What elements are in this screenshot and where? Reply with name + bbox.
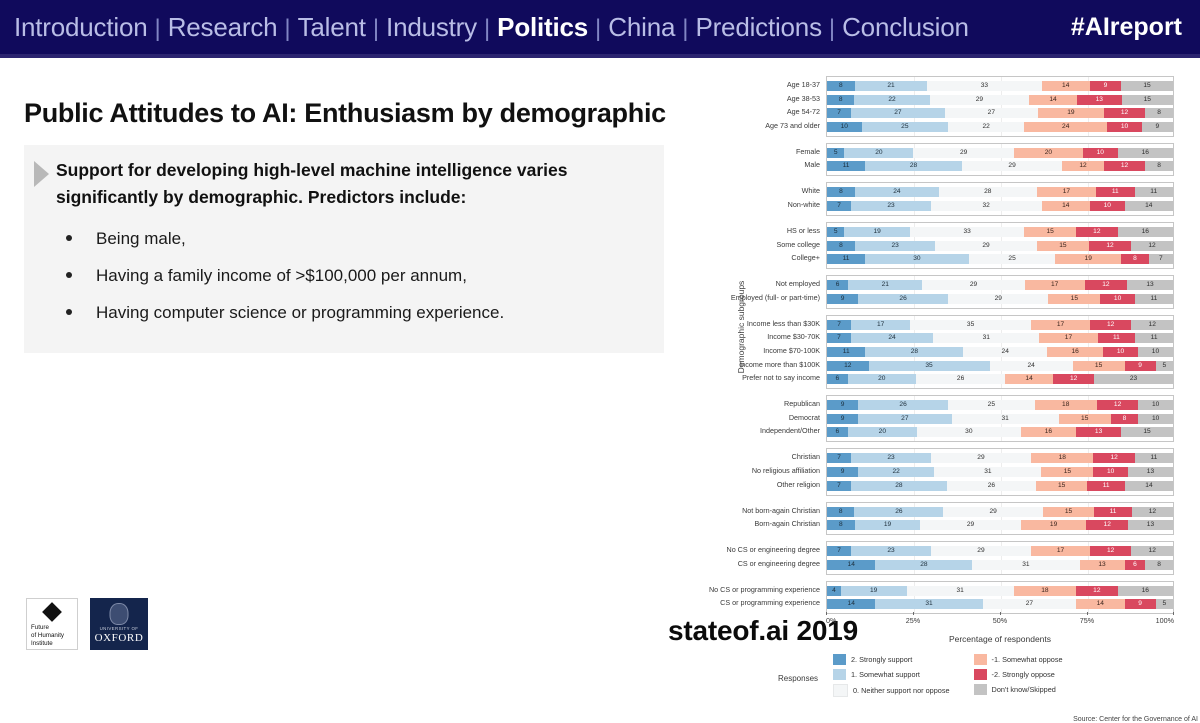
chart-x-tick bbox=[1000, 612, 1001, 615]
callout-text: Support for developing high-level machin… bbox=[56, 157, 650, 211]
chart-bar-row: 112824161010 bbox=[827, 347, 1173, 357]
chart-bar-segment: 12 bbox=[1090, 320, 1132, 330]
chart-facet-religion: 723291812119223115101372826151114 bbox=[826, 448, 1174, 495]
page-title: Public Attitudes to AI: Enthusiasm by de… bbox=[24, 98, 684, 129]
chart-x-tick bbox=[1173, 612, 1174, 615]
chart-bar-segment: 9 bbox=[1125, 599, 1156, 609]
chart-bar-segment: 27 bbox=[851, 108, 944, 118]
legend-column-left: 2. Strongly support1. Somewhat support0.… bbox=[833, 654, 950, 697]
nav-separator: | bbox=[822, 15, 842, 43]
chart-bar-row: 10252224109 bbox=[827, 122, 1173, 132]
chart-bar-segment: 19 bbox=[841, 586, 907, 596]
chart-bar-segment: 15 bbox=[1121, 427, 1173, 437]
chart-bar-segment: 7 bbox=[827, 108, 851, 118]
chart-bar-segment: 13 bbox=[1128, 467, 1173, 477]
bullet-item: Having computer science or programming e… bbox=[34, 301, 650, 326]
chart-bar-row: 7272719128 bbox=[827, 108, 1173, 118]
chart-bar-row: 92231151013 bbox=[827, 467, 1173, 477]
chart-bar-segment: 18 bbox=[1035, 400, 1097, 410]
nav-item-china[interactable]: China bbox=[608, 12, 675, 43]
chart-bar-segment: 28 bbox=[865, 161, 962, 171]
chart-facet-politics: 92625181210927311581062030161315 bbox=[826, 395, 1174, 442]
chart-row-label: White bbox=[802, 186, 820, 196]
chart-bar-segment: 19 bbox=[1021, 520, 1087, 530]
oxford-university-logo: UNIVERSITY OF OXFORD bbox=[90, 598, 148, 650]
chart-bar-segment: 8 bbox=[1145, 108, 1173, 118]
chart-bar-segment: 18 bbox=[1014, 586, 1076, 596]
chart-bar-segment: 8 bbox=[827, 95, 854, 105]
chart-bar-segment: 17 bbox=[1039, 333, 1097, 343]
chart-bar-segment: 12 bbox=[1053, 374, 1094, 384]
chart-bar-segment: 6 bbox=[827, 427, 848, 437]
nav-item-industry[interactable]: Industry bbox=[386, 12, 477, 43]
chart-bar-segment: 11 bbox=[1135, 453, 1173, 463]
chart-bar-segment: 12 bbox=[1132, 507, 1173, 517]
chart-bar-segment: 7 bbox=[827, 453, 851, 463]
chart-bar-segment: 24 bbox=[990, 361, 1073, 371]
chart-bar-segment: 9 bbox=[827, 467, 858, 477]
chart-bar-segment: 10 bbox=[827, 122, 862, 132]
chart-row-label: CS or programming experience bbox=[720, 598, 820, 608]
chart-bar-segment: 12 bbox=[1089, 241, 1131, 251]
chart-bar-segment: 27 bbox=[858, 414, 951, 424]
nav-separator: | bbox=[477, 15, 497, 43]
chart-bar-row: 1431271495 bbox=[827, 599, 1173, 609]
chart-bar-segment: 20 bbox=[1014, 148, 1083, 158]
chart-bar-segment: 12 bbox=[1131, 546, 1173, 556]
legend-item[interactable]: 0. Neither support nor oppose bbox=[833, 684, 950, 697]
chart-bar-segment: 13 bbox=[1080, 560, 1125, 570]
chart-facet-cs-degree: 723291712121428311368 bbox=[826, 541, 1174, 575]
fhi-line-2: of Humanity bbox=[31, 632, 74, 640]
chart-facet-income: 7173517121272431171111112824161010123524… bbox=[826, 315, 1174, 389]
chart-bar-row: 82229141315 bbox=[827, 95, 1173, 105]
chart-bar-segment: 28 bbox=[875, 560, 972, 570]
chart-bar-segment: 8 bbox=[1145, 161, 1173, 171]
chart-bar-segment: 31 bbox=[972, 560, 1079, 570]
chart-row-label: Not born-again Christian bbox=[742, 506, 820, 516]
chart-bar-segment: 8 bbox=[1121, 254, 1149, 264]
chart-bar-segment: 17 bbox=[1031, 320, 1090, 330]
chart-bar-segment: 12 bbox=[1131, 320, 1173, 330]
chart-bar-segment: 16 bbox=[1021, 427, 1076, 437]
chart-bar-segment: 10 bbox=[1090, 201, 1125, 211]
chart-bar-segment: 29 bbox=[948, 294, 1048, 304]
chart-bar-segment: 27 bbox=[945, 108, 1038, 118]
nav-item-research[interactable]: Research bbox=[168, 12, 278, 43]
chart-bar-segment: 7 bbox=[1149, 254, 1173, 264]
chart-bar-segment: 15 bbox=[1121, 81, 1173, 91]
legend-swatch bbox=[833, 684, 848, 697]
nav-item-talent[interactable]: Talent bbox=[298, 12, 366, 43]
chart-bar-segment: 11 bbox=[1096, 187, 1134, 197]
chart-bar-row: 9273115810 bbox=[827, 414, 1173, 424]
chart-bar-segment: 29 bbox=[922, 280, 1024, 290]
chart-bar-row: 52029201016 bbox=[827, 148, 1173, 158]
chart-bar-segment: 26 bbox=[916, 374, 1005, 384]
chart-bar-segment: 28 bbox=[865, 347, 963, 357]
nav-separator: | bbox=[588, 15, 608, 43]
chart-bar-segment: 9 bbox=[827, 400, 858, 410]
chart-bar-segment: 25 bbox=[969, 254, 1056, 264]
chart-bar-segment: 16 bbox=[1118, 148, 1173, 158]
chart-row-label: Income $70-100K bbox=[763, 346, 820, 356]
bullet-dot-icon bbox=[66, 235, 72, 241]
chart-bar-segment: 8 bbox=[827, 520, 855, 530]
diamond-icon bbox=[42, 602, 62, 622]
chart-bar-segment: 5 bbox=[827, 227, 844, 237]
chart-bar-segment: 35 bbox=[869, 361, 990, 371]
chart-bar-segment: 23 bbox=[851, 453, 931, 463]
chart-bar-segment: 19 bbox=[855, 520, 921, 530]
chart-bar-segment: 29 bbox=[931, 453, 1031, 463]
chart-bar-segment: 19 bbox=[1055, 254, 1121, 264]
chart-bar-segment: 17 bbox=[1031, 546, 1090, 556]
chart-bar-segment: 9 bbox=[827, 294, 858, 304]
chart-x-axis-label: Percentage of respondents bbox=[826, 634, 1174, 644]
legend-swatch bbox=[974, 654, 987, 665]
chart-bar-segment: 13 bbox=[1077, 95, 1122, 105]
callout-box: Support for developing high-level machin… bbox=[24, 145, 664, 353]
oxford-university-label: UNIVERSITY OF bbox=[90, 626, 148, 631]
chart-bar-segment: 9 bbox=[827, 414, 858, 424]
bullet-list: Being male,Having a family income of >$1… bbox=[34, 227, 650, 325]
chart-bar-segment: 11 bbox=[1087, 481, 1125, 491]
nav-item-introduction[interactable]: Introduction bbox=[14, 12, 147, 43]
chart-bar-segment: 15 bbox=[1037, 241, 1089, 251]
chart-bar-segment: 11 bbox=[827, 161, 865, 171]
chart-row-labels: Age 18-37Age 38-53Age 54-72Age 73 and ol… bbox=[714, 76, 824, 562]
chart-row-label: Independent/Other bbox=[760, 426, 820, 436]
chart-bar-segment: 11 bbox=[827, 347, 865, 357]
chart-bar-segment: 15 bbox=[1036, 481, 1087, 491]
chart-bar-segment: 19 bbox=[1038, 108, 1104, 118]
chart-x-tick bbox=[913, 612, 914, 615]
chart-bar-row: 62030161315 bbox=[827, 427, 1173, 437]
chart-bar-segment: 7 bbox=[827, 481, 851, 491]
chart-bar-segment: 22 bbox=[854, 95, 929, 105]
chart-row-label: Female bbox=[796, 147, 820, 157]
chart-facet-race: 8242817111172332141014 bbox=[826, 182, 1174, 216]
chart-x-tick-label: 75% bbox=[1080, 616, 1094, 625]
chart-row-label: Age 18-37 bbox=[787, 80, 820, 90]
chart-bar-segment: 6 bbox=[1125, 560, 1146, 570]
chart-bar-segment: 14 bbox=[1076, 599, 1124, 609]
chart-bar-segment: 10 bbox=[1138, 347, 1173, 357]
chart-row-label: Other religion bbox=[777, 480, 820, 490]
chart-bar-segment: 13 bbox=[1128, 520, 1173, 530]
chart-x-tick-label: 0% bbox=[826, 616, 836, 625]
chart-bar-row: 1130251987 bbox=[827, 254, 1173, 264]
chart-row-label: Income less than $30K bbox=[747, 319, 820, 329]
chart-bar-segment: 16 bbox=[1118, 227, 1173, 237]
chart-bar-segment: 7 bbox=[827, 201, 851, 211]
chart-x-tick bbox=[826, 612, 827, 615]
chart-bar-segment: 10 bbox=[1083, 148, 1118, 158]
chart-bar-row: 82629151112 bbox=[827, 507, 1173, 517]
chart-bar-segment: 12 bbox=[1090, 546, 1132, 556]
chart-bar-segment: 31 bbox=[934, 467, 1041, 477]
chart-bar-row: 72329171212 bbox=[827, 546, 1173, 556]
chart-bar-row: 92625181210 bbox=[827, 400, 1173, 410]
legend-item[interactable]: 2. Strongly support bbox=[833, 654, 950, 665]
chart-bar-row: 72332141014 bbox=[827, 201, 1173, 211]
legend-label: Don't know/Skipped bbox=[992, 685, 1056, 694]
chart-facet-cs-experience: 419311812161431271495 bbox=[826, 581, 1174, 615]
legend-label: 0. Neither support nor oppose bbox=[853, 686, 950, 695]
chart-bar-segment: 10 bbox=[1138, 414, 1173, 424]
chart-bar-segment: 11 bbox=[827, 254, 865, 264]
top-navigation-bar: Introduction|Research|Talent|Industry|Po… bbox=[0, 0, 1200, 54]
chart-bar-segment: 23 bbox=[1094, 374, 1173, 384]
chart-bar-segment: 26 bbox=[947, 481, 1036, 491]
chart-bar-segment: 14 bbox=[827, 599, 875, 609]
bullet-text: Having computer science or programming e… bbox=[96, 301, 504, 326]
nav-separator: | bbox=[147, 15, 167, 43]
legend-title: Responses bbox=[778, 674, 818, 683]
legend-column-right: -1. Somewhat oppose-2. Strongly opposeDo… bbox=[974, 654, 1063, 697]
chart-bar-segment: 22 bbox=[948, 122, 1024, 132]
chart-row-label: Age 73 and older bbox=[765, 121, 820, 131]
chart-row-label: Income more than $100K bbox=[739, 360, 820, 370]
chart-bar-segment: 9 bbox=[1090, 81, 1121, 91]
chart-bar-segment: 24 bbox=[851, 333, 933, 343]
chart-bar-segment: 31 bbox=[907, 586, 1014, 596]
chart-bar-segment: 12 bbox=[1097, 400, 1139, 410]
bullet-dot-icon bbox=[66, 309, 72, 315]
chart-row-label: College+ bbox=[791, 253, 820, 263]
chart-bar-segment: 31 bbox=[952, 414, 1059, 424]
chart-bar-segment: 7 bbox=[827, 333, 851, 343]
chart-bar-segment: 10 bbox=[1093, 467, 1128, 477]
chart-bar-segment: 9 bbox=[1125, 361, 1156, 371]
nav-hashtag: #AIreport bbox=[1071, 13, 1182, 42]
fhi-logo-text: Future of Humanity Institute bbox=[31, 624, 74, 648]
nav-underline bbox=[0, 54, 1200, 58]
chart-bar-segment: 29 bbox=[962, 161, 1062, 171]
chart-bar-segment: 11 bbox=[1094, 507, 1132, 517]
chart-bar-segment: 25 bbox=[948, 400, 1035, 410]
chart-bar-segment: 5 bbox=[1156, 361, 1173, 371]
chart-bar-segment: 15 bbox=[1043, 507, 1094, 517]
chart-x-tick-label: 50% bbox=[993, 616, 1007, 625]
chart-row-label: HS or less bbox=[787, 226, 820, 236]
chart-bar-segment: 15 bbox=[1048, 294, 1100, 304]
chart-bar-row: 82428171111 bbox=[827, 187, 1173, 197]
chart-row-label: Republican bbox=[784, 399, 820, 409]
chart-bar-segment: 15 bbox=[1041, 467, 1093, 477]
chart-bar-row: 51933151216 bbox=[827, 227, 1173, 237]
chart-bar-segment: 20 bbox=[848, 427, 917, 437]
chart-bar-segment: 15 bbox=[1059, 414, 1111, 424]
chart-row-label: Born-again Christian bbox=[754, 519, 820, 529]
chart-bar-segment: 23 bbox=[855, 241, 935, 251]
chart-x-tick bbox=[1087, 612, 1088, 615]
chart-bar-segment: 26 bbox=[858, 294, 948, 304]
chart-row-label: Age 54-72 bbox=[787, 107, 820, 117]
oxford-wordmark: OXFORD bbox=[90, 632, 148, 644]
chart-bar-segment: 32 bbox=[931, 201, 1042, 211]
chart-bar-segment: 8 bbox=[827, 507, 854, 517]
chart-bar-segment: 8 bbox=[1145, 560, 1173, 570]
chart-bar-segment: 15 bbox=[1024, 227, 1076, 237]
chart-bar-segment: 33 bbox=[910, 227, 1024, 237]
chart-bar-segment: 29 bbox=[913, 148, 1013, 158]
chart-bar-segment: 29 bbox=[943, 507, 1042, 517]
nav-items: Introduction|Research|Talent|Industry|Po… bbox=[14, 12, 1053, 43]
chart-bar-segment: 21 bbox=[848, 280, 922, 290]
future-of-humanity-institute-logo: Future of Humanity Institute bbox=[26, 598, 78, 650]
chart-bar-segment: 14 bbox=[1005, 374, 1053, 384]
chart-bar-segment: 5 bbox=[1156, 599, 1173, 609]
chart-bar-segment: 14 bbox=[1029, 95, 1077, 105]
chart-row-label: No CS or programming experience bbox=[709, 585, 820, 595]
chart-bar-segment: 31 bbox=[933, 333, 1039, 343]
chart-row-label: Some college bbox=[776, 240, 820, 250]
chart-row-label: No religious affiliation bbox=[752, 466, 820, 476]
chart-bar-segment: 23 bbox=[851, 201, 931, 211]
chart-bar-segment: 10 bbox=[1138, 400, 1173, 410]
chart-bar-segment: 20 bbox=[848, 374, 917, 384]
chart-bar-row: 82329151212 bbox=[827, 241, 1173, 251]
chart-bar-segment: 26 bbox=[854, 507, 943, 517]
chart-bar-segment: 20 bbox=[844, 148, 913, 158]
chart-bar-segment: 28 bbox=[851, 481, 947, 491]
chart-row-label: Christian bbox=[792, 452, 820, 462]
chart-bar-segment: 14 bbox=[1042, 201, 1090, 211]
chart-bar-segment: 12 bbox=[1093, 453, 1135, 463]
chart-bar-row: 71735171212 bbox=[827, 320, 1173, 330]
footer-logos: Future of Humanity Institute UNIVERSITY … bbox=[26, 598, 148, 650]
chart-bar-segment: 12 bbox=[1076, 227, 1118, 237]
chart-bar-segment: 11 bbox=[1098, 333, 1136, 343]
triangle-arrow-icon bbox=[34, 161, 49, 187]
chart-bar-segment: 4 bbox=[827, 586, 841, 596]
chart-bar-segment: 18 bbox=[1031, 453, 1093, 463]
bullet-text: Being male, bbox=[96, 227, 186, 252]
chart-bar-row: 41931181216 bbox=[827, 586, 1173, 596]
nav-item-conclusion[interactable]: Conclusion bbox=[842, 12, 969, 43]
chart-bar-row: 62129171213 bbox=[827, 280, 1173, 290]
legend-item[interactable]: Don't know/Skipped bbox=[974, 684, 1063, 695]
chart-bar-segment: 6 bbox=[827, 280, 848, 290]
chart-bar-segment: 12 bbox=[1085, 280, 1127, 290]
bullet-dot-icon bbox=[66, 272, 72, 278]
chart-bar-segment: 8 bbox=[827, 241, 855, 251]
chart-bar-segment: 15 bbox=[1073, 361, 1125, 371]
nav-separator: | bbox=[675, 15, 695, 43]
legend-swatch bbox=[974, 684, 987, 695]
chart-bar-row: 72431171111 bbox=[827, 333, 1173, 343]
chart-bar-segment: 21 bbox=[855, 81, 928, 91]
chart-bar-segment: 8 bbox=[1111, 414, 1139, 424]
chart-bar-row: 8213314915 bbox=[827, 81, 1173, 91]
chart-facet-age: 8213314915822291413157272719128102522241… bbox=[826, 76, 1174, 137]
chart-bar-segment: 22 bbox=[858, 467, 934, 477]
chart-bar-segment: 16 bbox=[1047, 347, 1103, 357]
chart-bar-segment: 23 bbox=[851, 546, 931, 556]
bullet-text: Having a family income of >$100,000 per … bbox=[96, 264, 467, 289]
chart-row-label: Male bbox=[804, 160, 820, 170]
legend-label: 2. Strongly support bbox=[851, 655, 912, 664]
nav-item-predictions[interactable]: Predictions bbox=[695, 12, 821, 43]
oxford-crest-icon bbox=[110, 603, 129, 625]
chart-bar-segment: 19 bbox=[844, 227, 910, 237]
chart-container: Demographic subgroups Age 18-37Age 38-53… bbox=[714, 76, 1194, 666]
chart-bar-segment: 28 bbox=[939, 187, 1037, 197]
chart-bar-segment: 13 bbox=[1076, 427, 1121, 437]
legend-label: -1. Somewhat oppose bbox=[992, 655, 1063, 664]
chart-bar-segment: 26 bbox=[858, 400, 948, 410]
bullet-item: Being male, bbox=[34, 227, 650, 252]
chart-row-label: CS or engineering degree bbox=[738, 559, 820, 569]
chart-bar-row: 72826151114 bbox=[827, 481, 1173, 491]
callout-row: Support for developing high-level machin… bbox=[34, 157, 650, 211]
chart-row-label: Democrat bbox=[789, 413, 820, 423]
chart-bar-row: 72329181211 bbox=[827, 453, 1173, 463]
chart-bar-segment: 11 bbox=[1135, 333, 1173, 343]
chart-row-label: Income $30-70K bbox=[767, 332, 820, 342]
chart-bar-segment: 29 bbox=[920, 520, 1020, 530]
bullet-item: Having a family income of >$100,000 per … bbox=[34, 264, 650, 289]
chart-bar-segment: 30 bbox=[865, 254, 969, 264]
chart-row-label: Not employed bbox=[776, 279, 820, 289]
nav-item-politics[interactable]: Politics bbox=[497, 12, 588, 43]
chart-bar-segment: 15 bbox=[1122, 95, 1173, 105]
legend-entries: 2. Strongly support1. Somewhat support0.… bbox=[833, 654, 1063, 697]
chart-facet-employment: 6212917121392629151011 bbox=[826, 275, 1174, 309]
chart-bar-segment: 10 bbox=[1107, 122, 1142, 132]
nav-separator: | bbox=[366, 15, 386, 43]
chart-bar-segment: 8 bbox=[827, 81, 855, 91]
chart-bar-segment: 30 bbox=[917, 427, 1021, 437]
legend-swatch bbox=[833, 654, 846, 665]
nav-separator: | bbox=[277, 15, 297, 43]
chart-bar-row: 1428311368 bbox=[827, 560, 1173, 570]
chart-bar-segment: 24 bbox=[855, 187, 939, 197]
chart-row-label: Prefer not to say income bbox=[742, 373, 820, 383]
chart-bar-segment: 16 bbox=[1118, 586, 1173, 596]
chart-bar-row: 81929191213 bbox=[827, 520, 1173, 530]
chart-bar-row: 1235241595 bbox=[827, 361, 1173, 371]
chart-bar-segment: 35 bbox=[910, 320, 1031, 330]
chart-bar-segment: 12 bbox=[1062, 161, 1104, 171]
chart-bar-row: 62026141223 bbox=[827, 374, 1173, 384]
chart-bar-segment: 24 bbox=[963, 347, 1047, 357]
chart-bar-segment: 29 bbox=[930, 95, 1029, 105]
chart-bar-segment: 10 bbox=[1100, 294, 1135, 304]
chart-bar-segment: 12 bbox=[1104, 161, 1146, 171]
chart-bar-segment: 11 bbox=[1135, 187, 1173, 197]
chart-bar-segment: 12 bbox=[1104, 108, 1146, 118]
chart-bar-segment: 12 bbox=[1131, 241, 1173, 251]
chart-bar-segment: 14 bbox=[1125, 201, 1173, 211]
chart-bar-segment: 12 bbox=[827, 361, 869, 371]
chart-bar-row: 11282912128 bbox=[827, 161, 1173, 171]
chart-bar-segment: 9 bbox=[1142, 122, 1173, 132]
fhi-line-3: Institute bbox=[31, 640, 74, 648]
chart-bar-segment: 14 bbox=[1042, 81, 1090, 91]
chart-bar-segment: 10 bbox=[1103, 347, 1138, 357]
chart-bar-segment: 25 bbox=[862, 122, 949, 132]
fhi-line-1: Future bbox=[31, 624, 74, 632]
chart-facet-gender: 5202920101611282912128 bbox=[826, 143, 1174, 177]
legend-item[interactable]: -1. Somewhat oppose bbox=[974, 654, 1063, 665]
chart-bar-segment: 29 bbox=[935, 241, 1036, 251]
chart-bar-segment: 7 bbox=[827, 320, 851, 330]
chart-source-note: Source: Center for the Governance of AI bbox=[1073, 716, 1198, 723]
chart-bar-segment: 5 bbox=[827, 148, 844, 158]
